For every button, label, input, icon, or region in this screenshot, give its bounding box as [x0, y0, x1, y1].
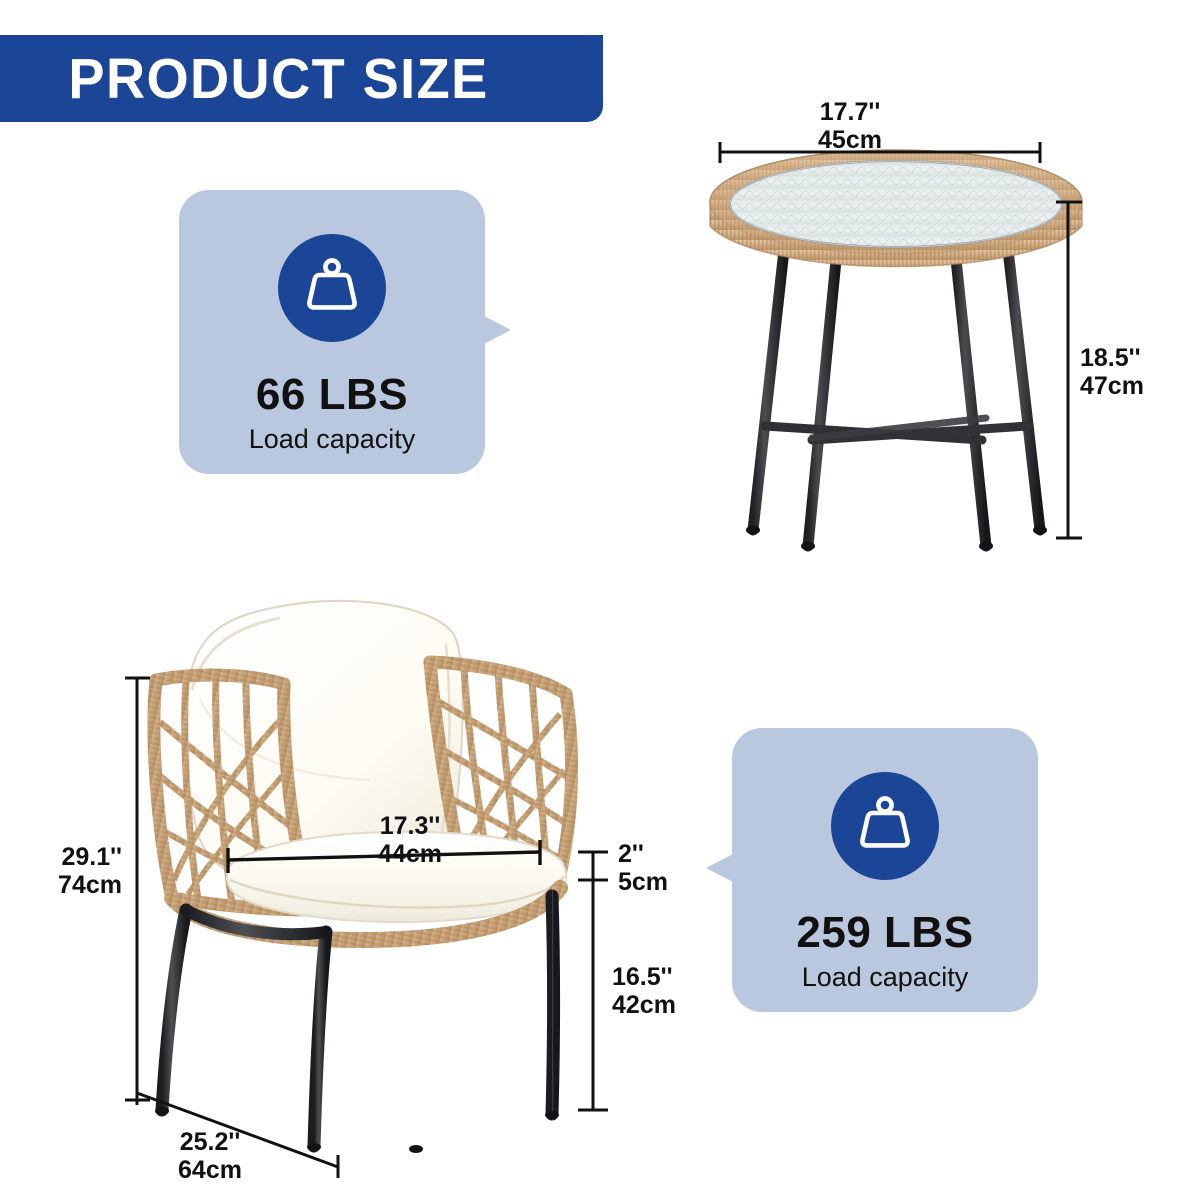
callout-value: 66 LBS: [256, 370, 408, 420]
seat-width-label: 17.3'' 44cm: [340, 812, 480, 868]
cushion-thickness-dimension-line: [578, 852, 608, 880]
weight-icon: [301, 258, 363, 318]
chair-depth-label: 25.2'' 64cm: [140, 1128, 280, 1184]
table-height-dimension-line: [1056, 202, 1082, 538]
callout-tail-right: [484, 316, 511, 344]
weight-icon-badge: [278, 234, 386, 342]
seat-height-label: 16.5'' 42cm: [612, 963, 676, 1019]
chair-dimension-lines: [100, 640, 660, 1200]
chair-height-dimension-line: [125, 678, 150, 1100]
callout-label: Load capacity: [249, 424, 416, 455]
callout-card: 259 LBS Load capacity: [732, 728, 1038, 1012]
table-height-label: 18.5'' 47cm: [1080, 344, 1144, 400]
weight-icon-badge: [831, 772, 939, 880]
callout-label: Load capacity: [802, 962, 969, 993]
chair-total-height-label: 29.1'' 74cm: [34, 843, 122, 899]
callout-card: 66 LBS Load capacity: [179, 190, 485, 474]
weight-icon: [854, 796, 916, 856]
page-title: PRODUCT SIZE: [0, 46, 489, 112]
product-size-banner: PRODUCT SIZE: [0, 35, 603, 122]
seat-height-dimension-line: [578, 880, 608, 1110]
callout-value: 259 LBS: [796, 908, 973, 958]
infographic-canvas: PRODUCT SIZE: [0, 0, 1200, 1200]
table-diameter-label: 17.7'' 45cm: [760, 98, 940, 154]
table-load-capacity-callout: 66 LBS Load capacity: [179, 190, 485, 474]
chair-load-capacity-callout: 259 LBS Load capacity: [732, 728, 1038, 1012]
table-dimension-lines: [690, 120, 1110, 570]
callout-tail-left: [706, 854, 733, 882]
cushion-thickness-label: 2'' 5cm: [618, 840, 668, 896]
